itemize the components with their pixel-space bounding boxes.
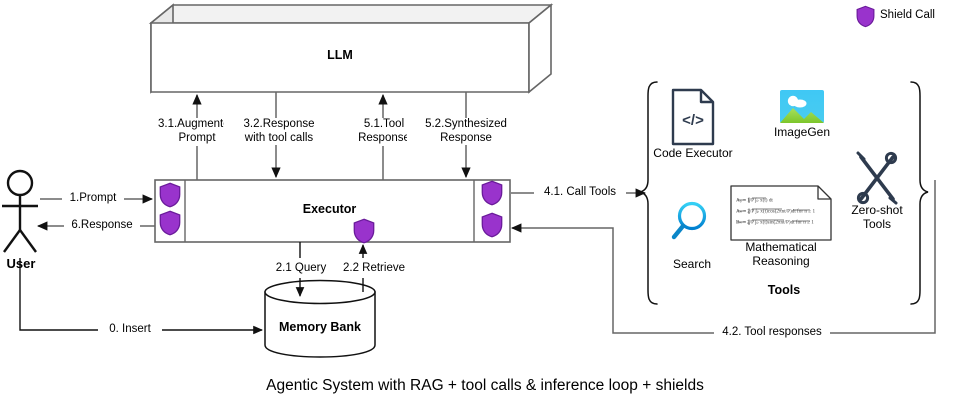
- tools-right-brace: [911, 82, 928, 304]
- user-leg-right: [20, 230, 36, 252]
- executor-label: Executor: [185, 202, 474, 216]
- image-generation-icon: [780, 90, 824, 123]
- svg-text:A₀ = 1/P ∫ₚ x(t) dt: A₀ = 1/P ∫ₚ x(t) dt: [736, 197, 773, 204]
- llm-label: LLM: [151, 48, 529, 62]
- user-node[interactable]: [2, 171, 38, 252]
- svg-text:Aₙ = 2/P ∫ₚ x(t)cos(2πnt/P)dt: Aₙ = 2/P ∫ₚ x(t)cos(2πnt/P)dt for n ≥ 1: [736, 208, 815, 215]
- memory-bank-node[interactable]: [265, 281, 375, 358]
- tools-left-brace: [640, 82, 657, 304]
- shield-icon-executor-left-bottom[interactable]: [160, 211, 179, 234]
- shield-icon-legend: [857, 6, 874, 26]
- diagram-canvas: </>: [0, 0, 970, 411]
- memory-bank-label: Memory Bank: [265, 320, 375, 334]
- shield-icon-executor-right-bottom[interactable]: [482, 213, 501, 236]
- shield-icon-executor-left-top[interactable]: [160, 183, 179, 206]
- edge-0-insert: [20, 258, 262, 330]
- edge-4-2-tool-responses: [512, 180, 935, 333]
- user-leg-left: [4, 230, 20, 252]
- cylinder-top: [265, 281, 375, 304]
- user-head: [8, 171, 32, 195]
- tools-group-label: Tools: [724, 283, 844, 297]
- shield-icon-executor-center[interactable]: [354, 219, 373, 242]
- user-label: User: [0, 256, 42, 271]
- diagram-title: Agentic System with RAG + tool calls & i…: [0, 377, 970, 395]
- llm-top-face: [151, 5, 551, 23]
- svg-text:Bₙ = 2/P ∫ₚ x(t)sin(2πnt/P)dt: Bₙ = 2/P ∫ₚ x(t)sin(2πnt/P)dt for n ≥ 1: [736, 219, 814, 226]
- crossed-tools-icon: [858, 153, 896, 203]
- shield-icon-executor-right-top[interactable]: [482, 181, 501, 204]
- formula-document-icon: A₀ = 1/P ∫ₚ x(t) dt Aₙ = 2/P ∫ₚ x(t)cos(…: [731, 186, 831, 240]
- svg-text:</>: </>: [682, 112, 704, 129]
- code-document-icon: </>: [673, 90, 713, 144]
- magnifier-icon: [674, 204, 705, 238]
